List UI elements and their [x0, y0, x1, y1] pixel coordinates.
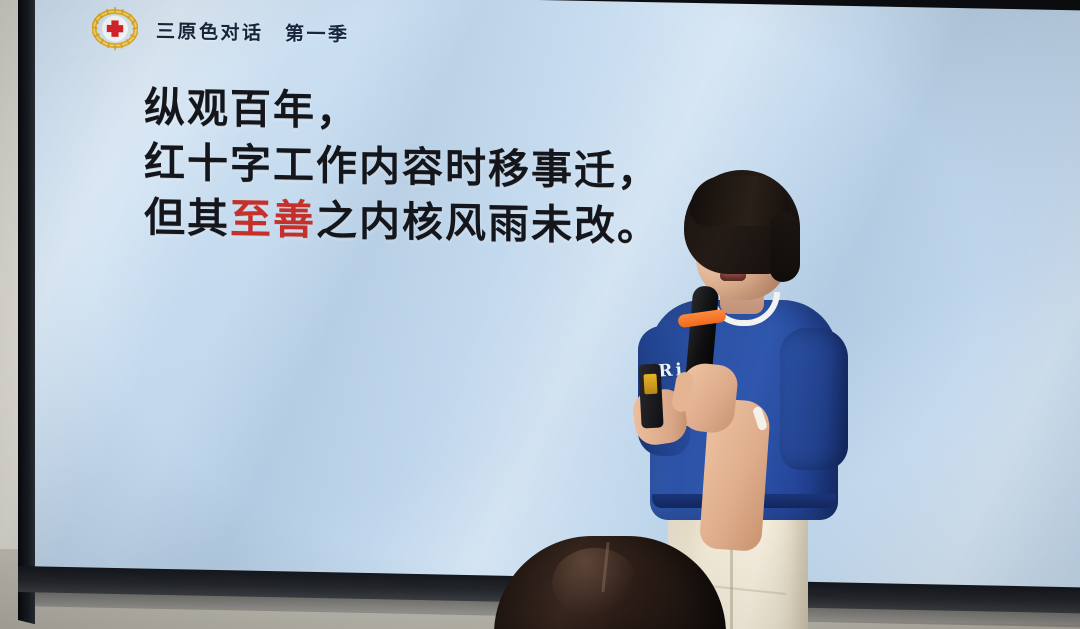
slide-line-3: 但其至善之内核风雨未改。: [144, 190, 660, 254]
slide-line-3-suffix: 之内核风雨未改。: [316, 196, 660, 250]
slide-line-2: 红十字工作内容时移事迁，: [144, 135, 660, 199]
slide-header-title: 三原色对话 第一季: [156, 16, 350, 47]
slide-body-text: 纵观百年， 红十字工作内容时移事迁， 但其至善之内核风雨未改。: [144, 80, 660, 254]
slide-line-3-prefix: 但其: [144, 193, 230, 243]
projection-screen: 三原色对话 第一季 纵观百年， 红十字工作内容时移事迁， 但其至善之内核风雨未改…: [26, 0, 1080, 626]
slide-line-3-highlight: 至善: [230, 195, 316, 245]
presenter-clicker-label: [643, 374, 657, 395]
slide-header: 三原色对话 第一季: [92, 5, 350, 56]
red-cross-wreath-emblem-icon: [92, 5, 138, 52]
shirt-right-sleeve: [780, 328, 848, 470]
photo-scene: 三原色对话 第一季 纵观百年， 红十字工作内容时移事迁， 但其至善之内核风雨未改…: [0, 0, 1080, 629]
speaker-hair-side: [770, 212, 800, 282]
screen-bezel-left: [18, 0, 35, 624]
audience-hair-highlight: [552, 548, 638, 618]
slide-line-1: 纵观百年，: [144, 80, 660, 144]
